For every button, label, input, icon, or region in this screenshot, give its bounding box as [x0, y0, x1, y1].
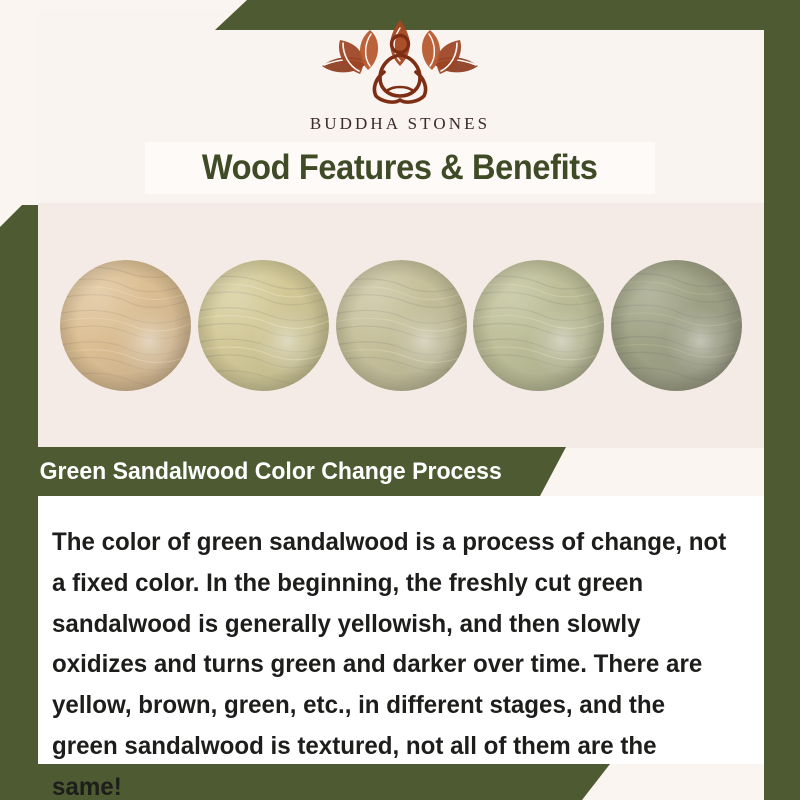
body-paragraph: The color of green sandalwood is a proce… — [52, 522, 728, 800]
wood-grain-icon — [611, 260, 742, 391]
page-title: Wood Features & Benefits — [202, 148, 598, 188]
section-header-banner: Green Sandalwood Color Change Process — [0, 447, 566, 496]
wood-grain-icon — [336, 260, 467, 391]
bead-stage-3 — [336, 260, 467, 391]
frame-accent-left — [0, 205, 38, 800]
wood-grain-icon — [198, 260, 329, 391]
lotus-meditation-figure-icon — [314, 18, 486, 110]
bead-stage-5 — [611, 260, 742, 391]
brand-wordmark: BUDDHA STONES — [310, 114, 490, 134]
wood-grain-icon — [473, 260, 604, 391]
bead-progression-row — [38, 255, 764, 395]
section-heading: Green Sandalwood Color Change Process — [40, 458, 502, 486]
bead-stage-2 — [198, 260, 329, 391]
bead-stage-1 — [60, 260, 191, 391]
bead-stage-4 — [473, 260, 604, 391]
wood-grain-icon — [60, 260, 191, 391]
brand-logo: BUDDHA STONES — [0, 18, 800, 134]
infographic-canvas: BUDDHA STONES Wood Features & Benefits — [0, 0, 800, 800]
page-title-bar: Wood Features & Benefits — [145, 142, 655, 194]
